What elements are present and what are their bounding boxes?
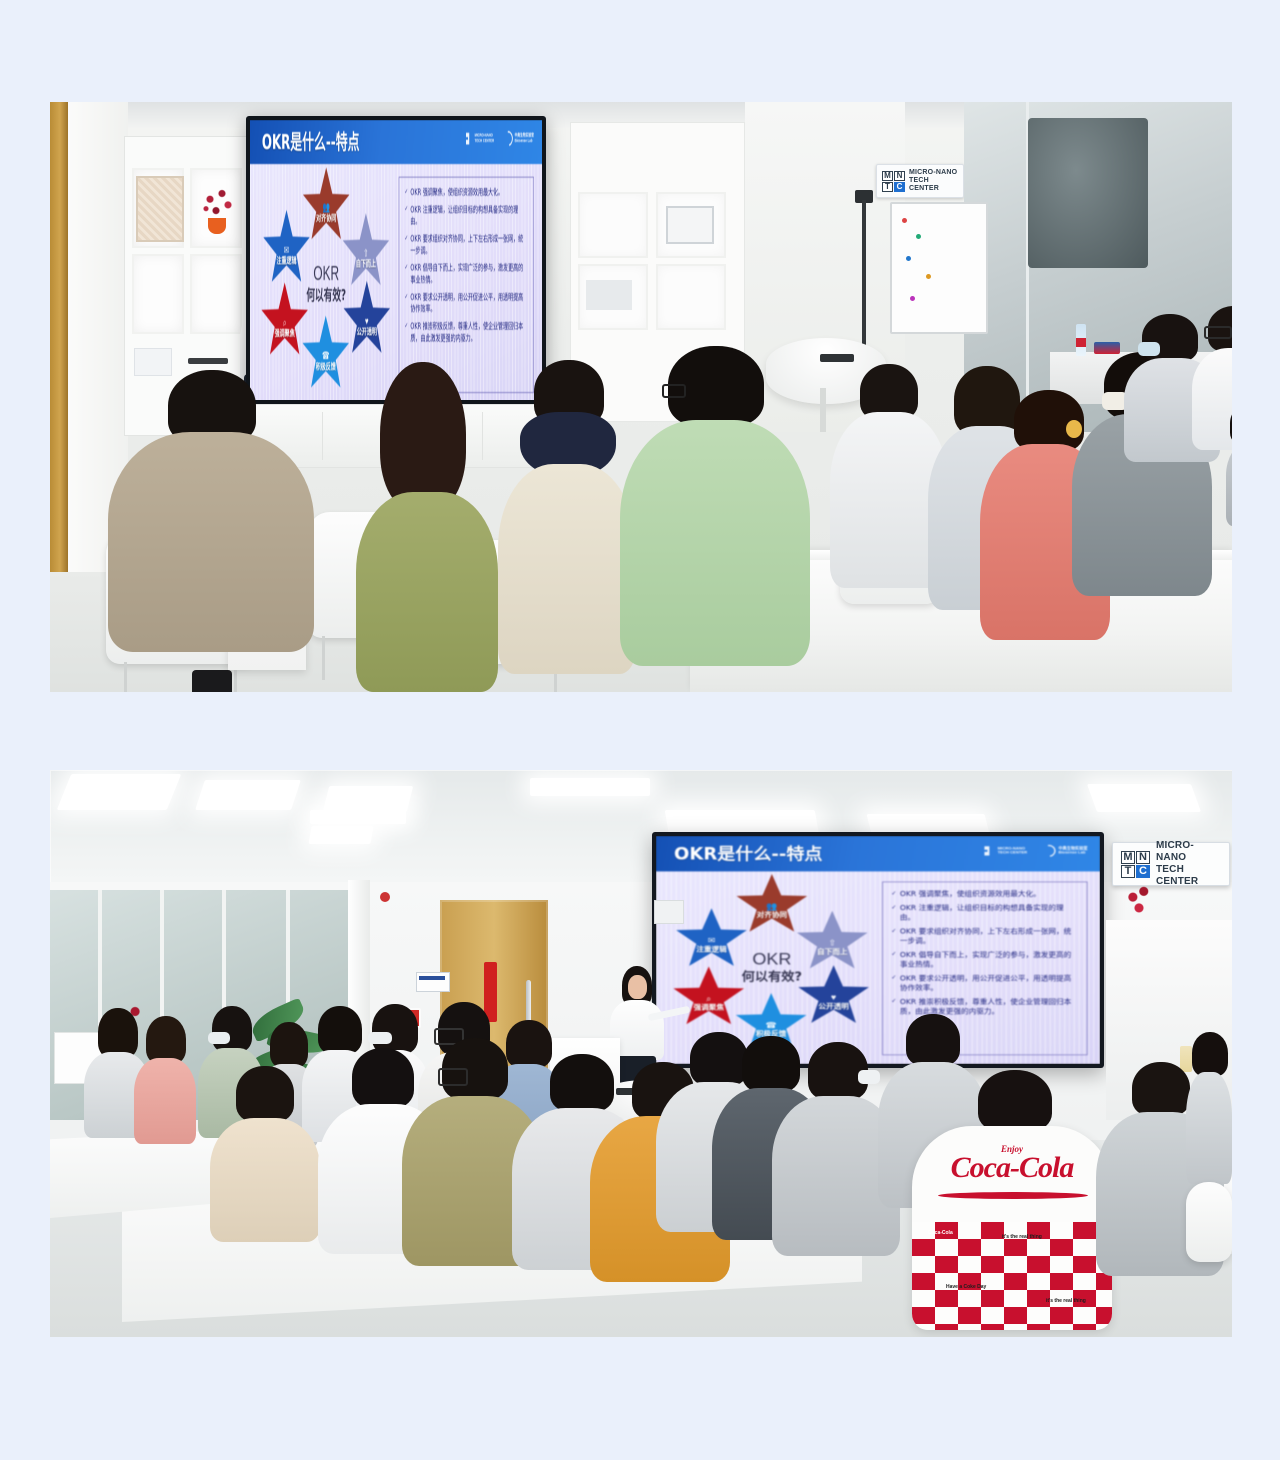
star-diagram-center: OKR 何以有效? [298, 241, 354, 323]
shelf-remote [188, 358, 228, 364]
photo-meeting-room-wide: OKR是什么--特点 MICRO-NANOTECH CENTER 中奥生物实验室… [50, 770, 1232, 1337]
display-surface: OKR是什么--特点 MICRO-NANOTECH CENTER 中奥生物实验室… [250, 120, 542, 400]
phone-icon: ☎ [322, 350, 329, 360]
jacket-slogan: it's the real thing [1002, 1234, 1042, 1240]
bullet-item: ✓OKR 强调聚焦，使组织资源效用最大化。 [405, 186, 528, 198]
biosense-lab-logo: 中奥生物实验室Biosense Lab [504, 131, 534, 146]
attendee [490, 360, 640, 692]
ceiling-light [195, 780, 301, 810]
eyeglasses [662, 384, 686, 398]
bullet-item: ✓OKR 倡导自下而上，实现广泛的参与，激发更高的事业热情。 [891, 950, 1078, 969]
slide-title: OKR是什么--特点 [674, 845, 822, 864]
tabletop-device [820, 354, 854, 362]
camera-tripod [862, 200, 866, 360]
bullet-item: ✓OKR 注重逻辑，让组织目标的构想具备实现的理由。 [405, 204, 528, 228]
bullet-item: ✓OKR 倡导自下而上，实现广泛的参与，激发更高的事业热情。 [405, 262, 528, 286]
decorative-flowers [198, 184, 238, 222]
people-icon: 👥 [323, 202, 330, 212]
swirl-icon [502, 128, 514, 149]
mntc-logo-icon: M N T C [882, 171, 905, 192]
orange-vase [208, 218, 226, 234]
up-arrow-icon: ⇧ [828, 939, 836, 947]
ceiling-light [308, 826, 373, 844]
mntc-glyph-icon [466, 133, 473, 145]
slide-logos: MICRO-NANOTECH CENTER 中奥生物实验室Biosense La… [984, 845, 1087, 857]
whiteboard [890, 202, 988, 334]
attendee [134, 1016, 196, 1142]
shelf-books [586, 280, 632, 310]
attendee [1226, 402, 1232, 528]
jacket-slogan: Have a Coke Day [946, 1284, 986, 1290]
attendee [620, 346, 810, 692]
star-duiqixietong: 👥 对齐协同 [302, 167, 349, 245]
chair [1186, 1182, 1232, 1262]
check-icon: ✓ [405, 262, 408, 286]
check-icon: ✓ [891, 997, 896, 1016]
small-monitor [654, 900, 684, 924]
smoke-detector-icon [380, 892, 390, 902]
ceiling-light [57, 774, 182, 810]
check-icon: ✓ [405, 320, 408, 344]
envelope-icon: ✉ [284, 245, 289, 255]
star-duiqixietong: 👥 对齐协同 [736, 874, 808, 937]
bullet-item: ✓OKR 推崇积极反馈，尊重人性，使企业管理回归本质，由此激发更强的内驱力。 [405, 320, 528, 344]
shelf-picture-frame [666, 206, 714, 244]
phone-icon: ☎ [766, 1021, 777, 1029]
check-icon: ✓ [891, 903, 896, 922]
slide-title: OKR是什么--特点 [262, 131, 360, 155]
check-icon: ✓ [405, 204, 408, 228]
face-mask [1138, 342, 1160, 356]
okr-slide-instance-1: OKR是什么--特点 MICRO-NANOTECH CENTER 中奥生物实验室… [250, 120, 542, 400]
envelope-icon: ✉ [708, 936, 716, 944]
check-icon: ✓ [891, 927, 896, 946]
wall-sign-text: MICRO-NANO TECH CENTER [1156, 840, 1221, 888]
biosense-lab-logo: 中奥生物实验室Biosense Lab [1042, 845, 1087, 857]
ceiling-light [310, 810, 406, 824]
wall-sign-text: MICRO-NANO TECH CENTER [909, 169, 958, 193]
ceiling-light [323, 786, 413, 812]
eyeglasses [1204, 326, 1232, 339]
photo-meeting-room-close: OKR是什么--特点 MICRO-NANOTECH CENTER 中奥生物实验室… [50, 102, 1232, 692]
bullet-item: ✓OKR 强调聚焦，使组织资源效用最大化。 [891, 889, 1078, 898]
check-icon: ✓ [891, 950, 896, 969]
shoe [192, 670, 232, 692]
check-icon: ✓ [891, 973, 896, 992]
wall-sign-micro-nano-tech-center: M N T C MICRO-NANO TECH CENTER [876, 164, 964, 198]
ceiling-light [1087, 784, 1201, 812]
attendee-coca-cola-jacket: Enjoy Coca-Cola Coca-Cola it's the real … [912, 1070, 1112, 1330]
face-mask [208, 1032, 230, 1044]
attendee [350, 362, 500, 692]
search-icon: ⌕ [283, 317, 286, 327]
micro-nano-tech-center-logo: MICRO-NANOTECH CENTER [984, 846, 1027, 855]
eyeglasses [438, 1068, 468, 1086]
face-mask [368, 1032, 392, 1044]
attendee [108, 370, 314, 692]
bullet-item: ✓OKR 注重逻辑，让组织目标的构想具备实现的理由。 [891, 903, 1078, 922]
search-icon: ⌕ [706, 994, 711, 1002]
jacket-slogan: it's the real thing [1046, 1298, 1086, 1304]
heart-icon: ♥ [831, 993, 836, 1001]
bullet-item: ✓OKR 推崇积极反馈，尊重人性，使企业管理回归本质，由此激发更强的内驱力。 [891, 997, 1078, 1016]
door-sign [416, 972, 450, 992]
page-root: OKR是什么--特点 MICRO-NANOTECH CENTER 中奥生物实验室… [0, 0, 1280, 1460]
bullet-item: ✓OKR 要求组织对齐协同，上下左右形成一张网，统一步调。 [891, 927, 1078, 946]
check-icon: ✓ [405, 291, 408, 315]
coca-cola-mini-logo: Coca-Cola [928, 1230, 953, 1236]
mntc-logo-icon: M N T C [1121, 851, 1150, 878]
star-diagram-center: OKR 何以有效? [730, 934, 815, 1000]
wall-sign-micro-nano-tech-center: M N T C MICRO-NANO TECH CENTER [1112, 842, 1230, 886]
red-flower-arrangement [1122, 882, 1156, 918]
mntc-glyph-icon [984, 846, 994, 855]
micro-nano-tech-center-logo: MICRO-NANOTECH CENTER [466, 133, 494, 145]
attendee [1186, 1032, 1232, 1182]
table-leg [820, 388, 826, 432]
check-icon: ✓ [891, 889, 896, 898]
check-icon: ✓ [405, 186, 408, 198]
heart-icon: ♥ [365, 316, 369, 326]
attendee [210, 1066, 320, 1236]
ceiling-light [530, 778, 650, 796]
wooden-door-edge [50, 102, 68, 572]
dark-glass-reflection [1028, 118, 1148, 268]
slide-logos: MICRO-NANOTECH CENTER 中奥生物实验室Biosense La… [466, 131, 534, 146]
bullet-item: ✓OKR 要求组织对齐协同，上下左右形成一张网，统一步调。 [405, 233, 528, 257]
face-mask [858, 1070, 880, 1084]
people-icon: 👥 [766, 902, 777, 910]
bullet-item: ✓OKR 要求公开透明，用公开促进公平，用透明提高协作效率。 [405, 291, 528, 315]
up-arrow-icon: ⇧ [363, 248, 368, 258]
coca-cola-script: Coca-Cola [922, 1152, 1102, 1184]
swirl-icon [1040, 843, 1058, 860]
check-icon: ✓ [405, 233, 408, 257]
wall-art-frame [136, 176, 184, 242]
bullet-item: ✓OKR 要求公开透明，用公开促进公平，用透明提高协作效率。 [891, 973, 1078, 992]
